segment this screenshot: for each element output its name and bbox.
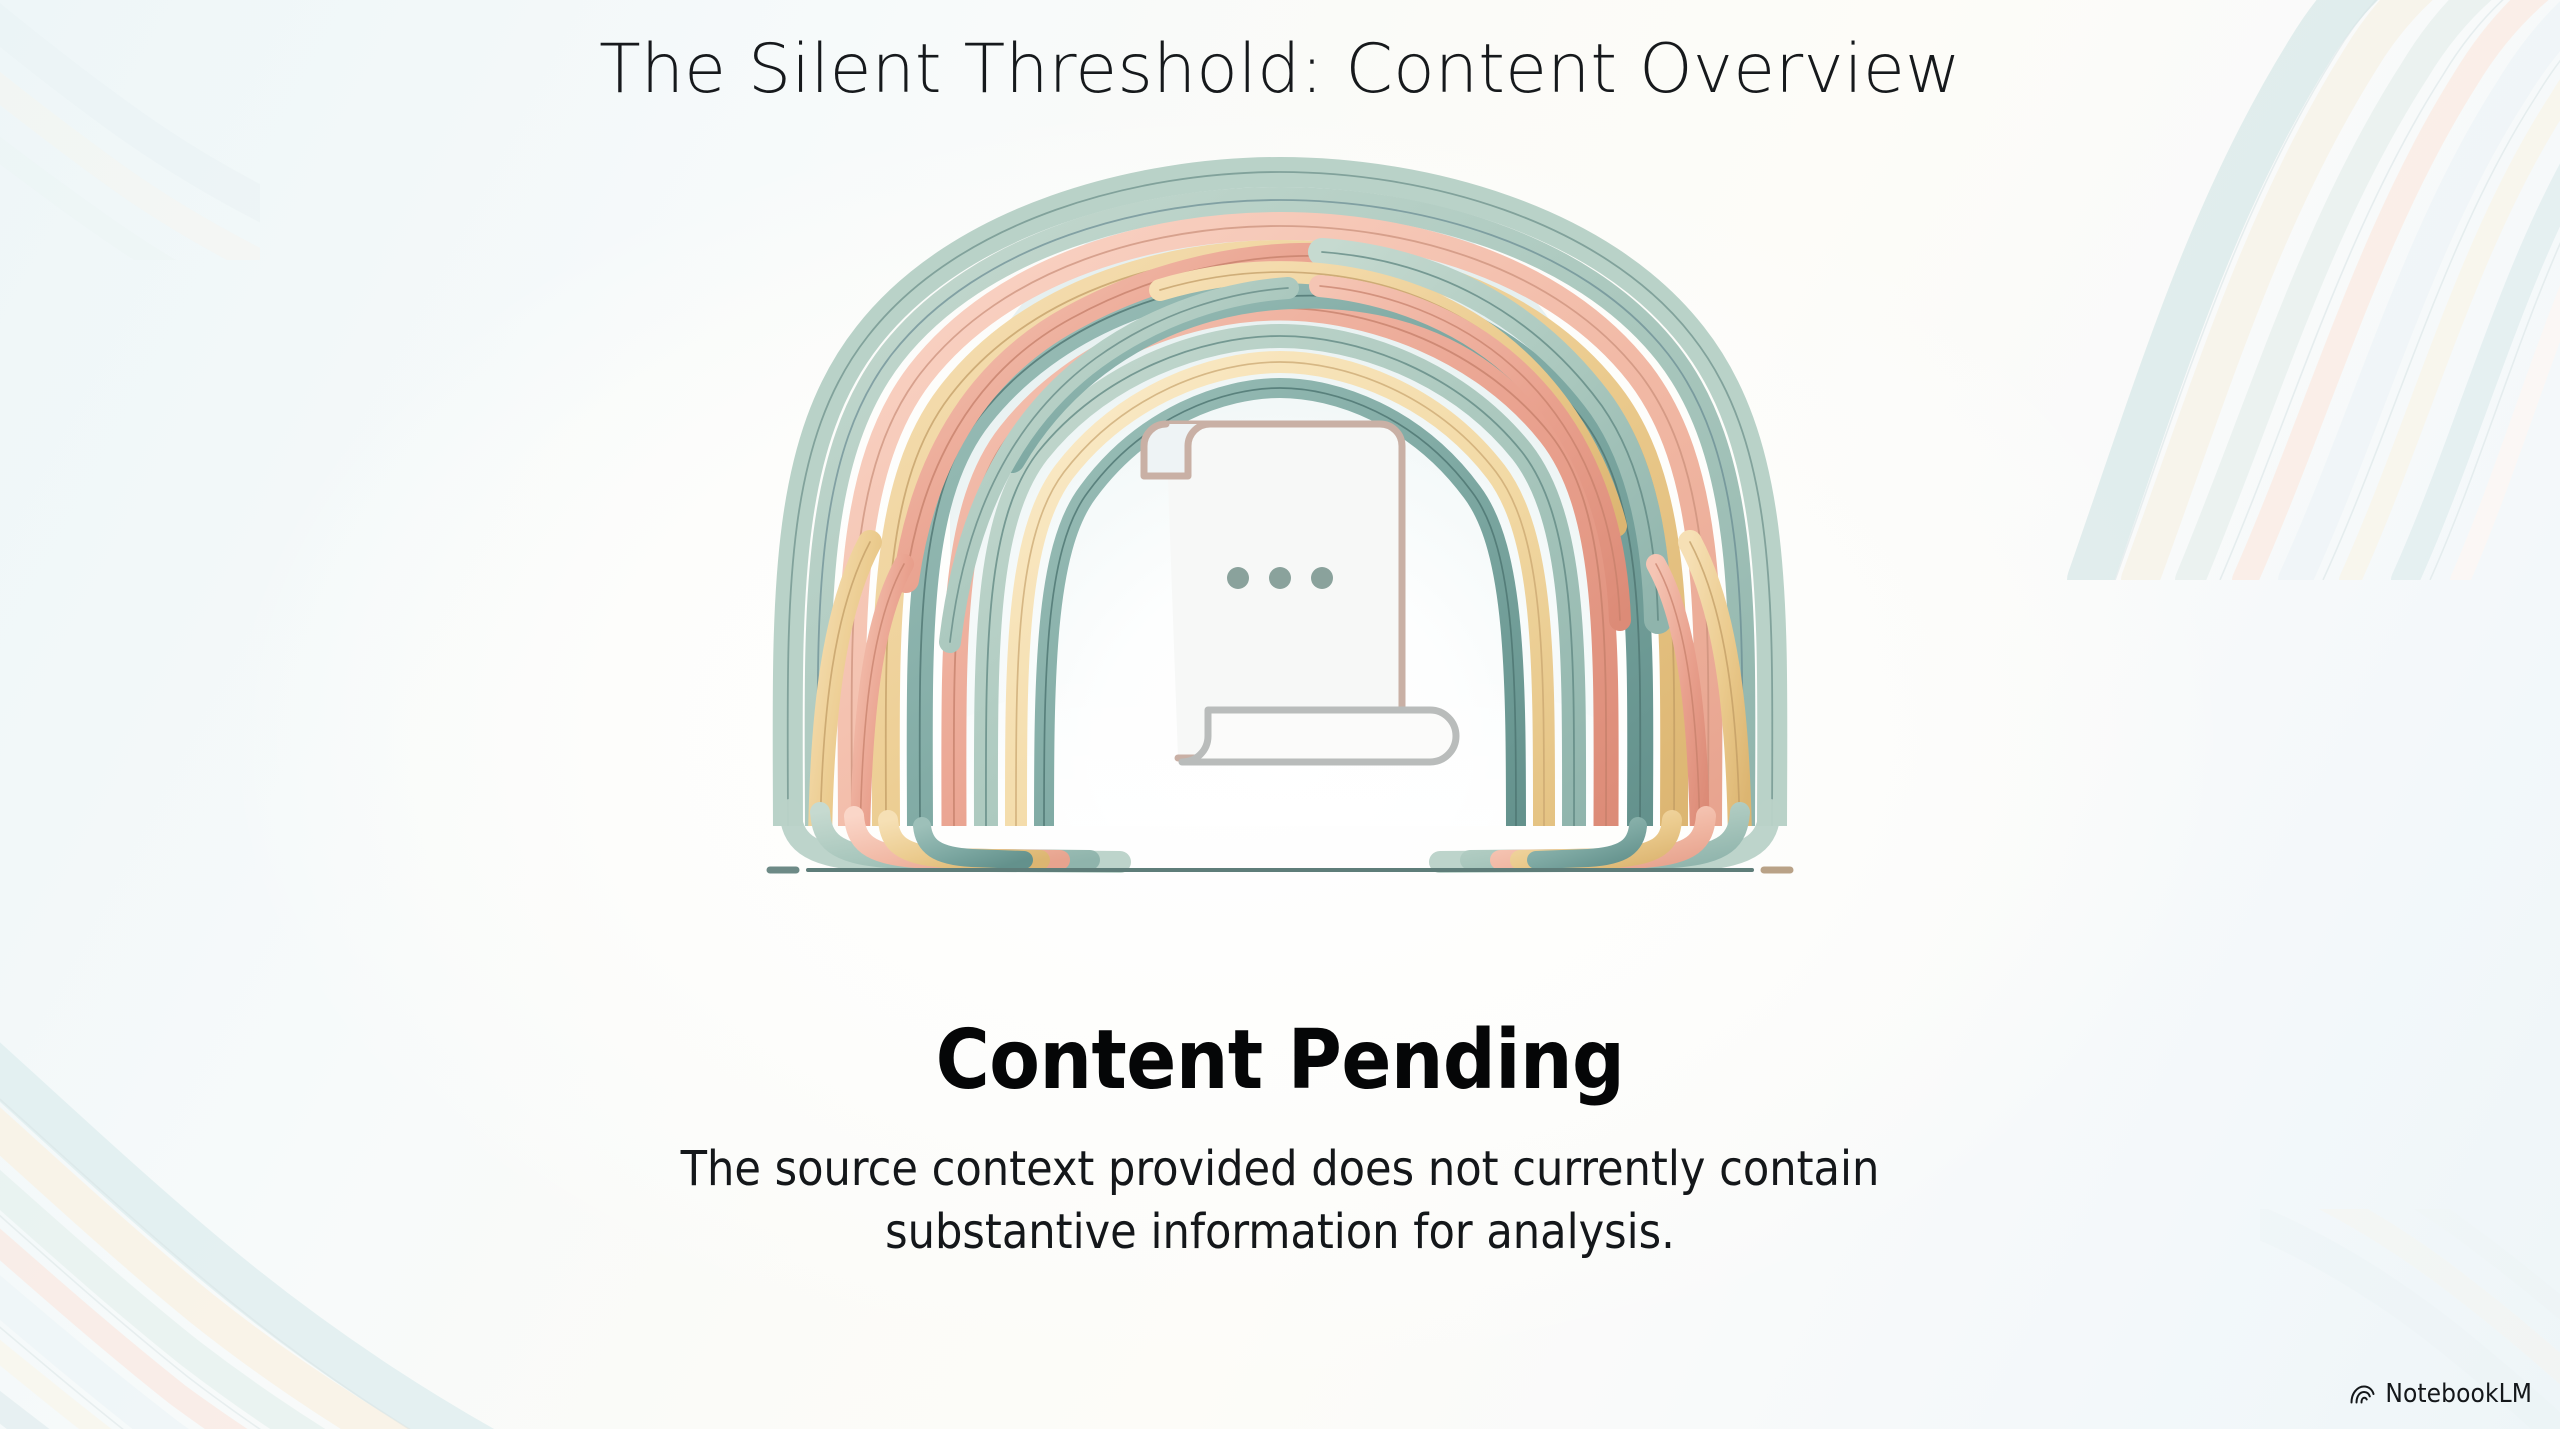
status-text-block: Content Pending The source context provi… <box>0 1020 2560 1265</box>
slide-canvas: The Silent Threshold: Content Overview <box>0 0 2560 1429</box>
status-description: The source context provided does not cur… <box>570 1138 1990 1265</box>
status-heading: Content Pending <box>0 1020 2560 1102</box>
scroll-ellipsis-dots <box>1227 567 1333 589</box>
notebooklm-watermark: NotebookLM <box>2349 1379 2532 1409</box>
notebooklm-spiral-icon <box>2349 1381 2376 1408</box>
notebooklm-watermark-label: NotebookLM <box>2385 1379 2532 1409</box>
braided-arch-illustration <box>620 150 1940 950</box>
slide-title: The Silent Threshold: Content Overview <box>0 34 2560 105</box>
